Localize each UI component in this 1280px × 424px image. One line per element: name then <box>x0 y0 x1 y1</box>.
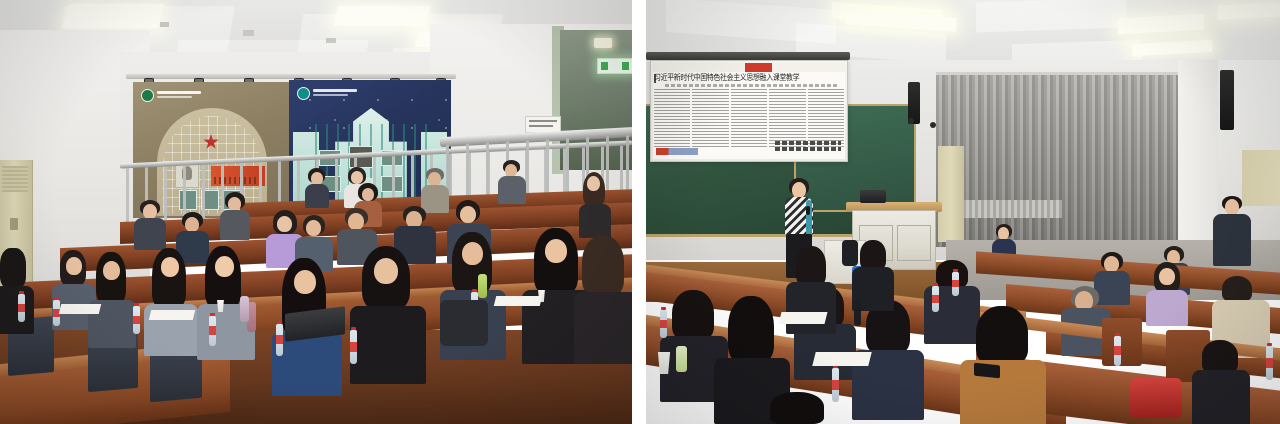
newspaper-subhead <box>665 84 837 87</box>
window-curtain[interactable] <box>936 72 1178 247</box>
university-logo-left <box>141 89 201 102</box>
beverage-bottle[interactable] <box>478 274 487 298</box>
water-bottle[interactable] <box>1266 346 1273 380</box>
water-bottle[interactable] <box>952 272 959 296</box>
university-logo-right <box>297 87 357 100</box>
newspaper-columns <box>654 89 844 147</box>
ceiling-speaker-icon <box>326 38 336 43</box>
photo-right[interactable]: 习近平新时代中国特色社会主义思想融入课堂教学 <box>646 0 1280 424</box>
projection-screen[interactable]: 习近平新时代中国特色社会主义思想融入课堂教学 <box>650 60 848 162</box>
water-bottle[interactable] <box>932 286 939 312</box>
university-emblem-icon <box>141 89 154 102</box>
ceiling-fluorescent-light <box>334 6 431 26</box>
notepaper[interactable] <box>149 310 195 320</box>
thermos-bottle[interactable] <box>854 300 861 326</box>
water-bottle[interactable] <box>1114 336 1121 366</box>
exit-sign-icon <box>597 58 632 74</box>
door-lamp-icon <box>594 38 612 48</box>
ac-control-icon[interactable] <box>10 218 18 230</box>
newspaper-highlight-box <box>656 148 698 155</box>
newspaper-headline: 习近平新时代中国特色社会主义思想融入课堂教学 <box>654 74 844 83</box>
backpack[interactable] <box>440 300 488 346</box>
handheld-microphone-icon <box>806 206 810 215</box>
air-conditioner-unit <box>938 146 964 242</box>
water-bottle[interactable] <box>660 310 667 338</box>
ceiling-smoke-detector-icon <box>160 22 169 27</box>
notepaper[interactable] <box>812 352 871 366</box>
beverage-bottle[interactable] <box>676 346 687 372</box>
photo-left[interactable]: Lecture hall audience seated at tiered w… <box>0 0 632 424</box>
newspaper-column <box>692 89 728 147</box>
newspaper-column <box>731 89 767 147</box>
water-bottle[interactable] <box>276 324 283 356</box>
photo-gutter <box>632 0 646 424</box>
photo-pair-canvas: Lecture hall audience seated at tiered w… <box>0 0 1280 424</box>
handbag[interactable] <box>1130 378 1182 418</box>
ceiling-panel <box>976 0 1126 33</box>
ceiling-speaker-icon <box>243 30 254 36</box>
smartphone[interactable] <box>974 363 1000 379</box>
projected-slide: 习近平新时代中国特色社会主义思想融入课堂教学 <box>653 63 845 159</box>
university-name-text <box>313 89 357 98</box>
headline-text: 习近平新时代中国特色社会主义思想融入课堂教学 <box>654 73 844 83</box>
newspaper-masthead <box>653 63 845 72</box>
podium-panel <box>897 225 931 261</box>
security-camera-icon <box>930 122 936 128</box>
ac-vent-icon <box>2 166 28 192</box>
security-camera-icon <box>908 118 914 124</box>
notepaper[interactable] <box>779 312 828 324</box>
water-bottle[interactable] <box>209 316 216 346</box>
water-bottle[interactable] <box>832 368 839 402</box>
spotlight-track <box>126 74 456 79</box>
ceiling-fluorescent-light <box>63 4 165 28</box>
university-emblem-icon <box>297 87 310 100</box>
notepaper[interactable] <box>494 296 542 306</box>
wall-speaker-icon <box>1220 70 1234 130</box>
water-bottle[interactable] <box>350 330 357 364</box>
newspaper-column <box>769 89 805 147</box>
projection-screen-housing <box>646 52 850 60</box>
curtain-shading <box>936 75 1178 247</box>
air-conditioner-unit <box>1242 150 1280 206</box>
thermos-bottle[interactable] <box>240 296 249 322</box>
water-bottle[interactable] <box>18 294 25 322</box>
backpack[interactable] <box>842 240 858 266</box>
water-bottle[interactable] <box>133 306 140 334</box>
university-name-text <box>157 91 201 100</box>
chair[interactable] <box>1102 318 1142 366</box>
wall-pillar <box>1178 60 1218 250</box>
newspaper-column <box>808 89 844 147</box>
laptop-on-podium[interactable] <box>860 190 886 203</box>
notepaper[interactable] <box>59 304 101 314</box>
newspaper-column <box>654 89 690 147</box>
newspaper-quote-block <box>775 141 841 155</box>
